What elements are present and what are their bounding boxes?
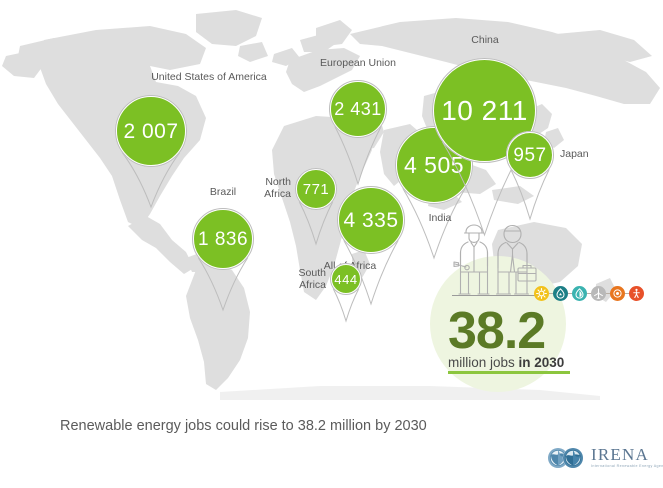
map-pin-label-japan: Japan	[560, 148, 604, 160]
businessman-with-briefcase-icon	[497, 226, 537, 295]
irena-tagline: International Renewable Energy Agency	[591, 464, 663, 469]
map-pin-label-south-africa: SouthAfrica	[282, 267, 326, 291]
map-pin-value-south-africa: 444	[330, 263, 362, 295]
map-pin-label-china: China	[460, 34, 510, 46]
map-pin-value-brazil: 1 836	[192, 208, 254, 270]
marine-energy-icon	[629, 286, 644, 301]
total-jobs-year: in 2030	[519, 355, 565, 370]
wind-turbine-icon	[591, 286, 606, 301]
infographic-canvas: 2 007United States of America1 836Brazil…	[0, 0, 663, 488]
bioenergy-icon	[610, 286, 625, 301]
female-worker-with-wrench-icon	[454, 225, 489, 294]
map-pin-eu[interactable]: 2 431European Union	[329, 80, 387, 138]
irena-globes-icon	[546, 447, 588, 469]
total-jobs-caption: million jobs in 2030	[448, 355, 564, 370]
map-pin-label-north-africa: NorthAfrica	[247, 176, 291, 200]
map-pin-label-eu: European Union	[311, 57, 405, 69]
irena-logo[interactable]: IRENA International Renewable Energy Age…	[546, 446, 663, 469]
map-pin-south-africa[interactable]: 444SouthAfrica	[330, 263, 362, 295]
map-pin-usa[interactable]: 2 007United States of America	[115, 95, 187, 167]
worker-figures-illustration	[452, 222, 540, 310]
map-pin-label-usa: United States of America	[134, 71, 284, 83]
map-pin-value-north-africa: 771	[295, 168, 337, 210]
map-pin-value-japan: 957	[506, 131, 554, 179]
map-pin-value-usa: 2 007	[115, 95, 187, 167]
map-pin-value-eu: 2 431	[329, 80, 387, 138]
total-jobs-underline	[448, 371, 570, 374]
irena-wordmark: IRENA	[591, 446, 663, 463]
map-pin-japan[interactable]: 957Japan	[506, 131, 554, 179]
total-jobs-number: 38.2	[448, 305, 545, 357]
page-caption: Renewable energy jobs could rise to 38.2…	[60, 418, 427, 434]
map-pin-north-africa[interactable]: 771NorthAfrica	[295, 168, 337, 210]
solar-sun-icon	[534, 286, 549, 301]
total-jobs-unit: million jobs	[448, 355, 519, 370]
geothermal-drop-icon	[553, 286, 568, 301]
hydropower-drop-icon	[572, 286, 587, 301]
map-pin-brazil[interactable]: 1 836Brazil	[192, 208, 254, 270]
map-pin-label-brazil: Brazil	[197, 186, 249, 198]
energy-type-icon-strip	[534, 286, 644, 301]
